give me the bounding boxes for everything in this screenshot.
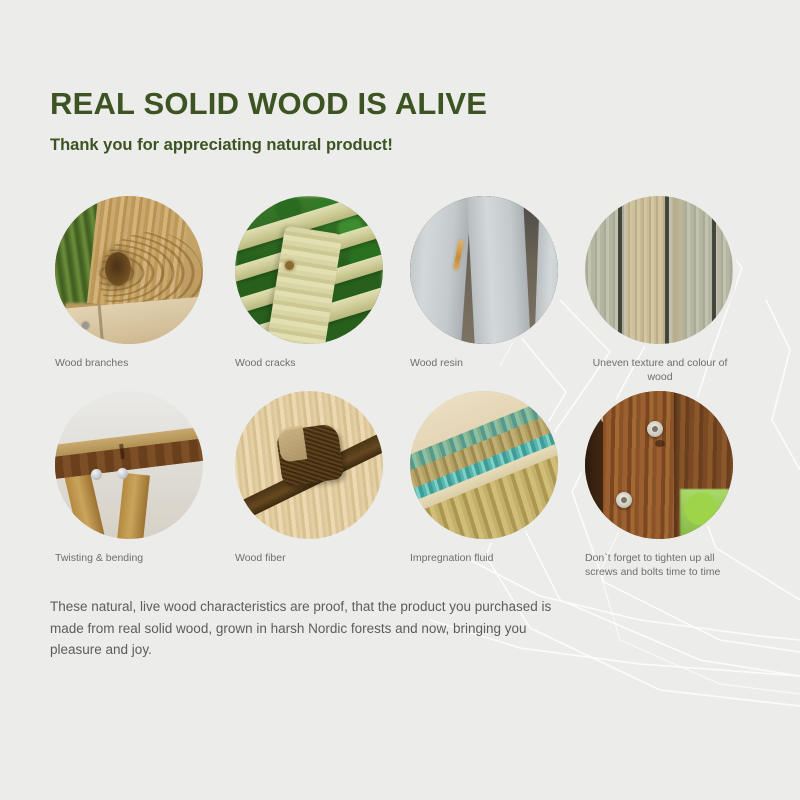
caption-wood-branches: Wood branches (55, 356, 205, 370)
feature-uneven-texture: Uneven texture and colour of wood (585, 196, 735, 384)
feature-impregnation-fluid: Impregnation fluid (410, 391, 560, 565)
circle-wrap (55, 196, 203, 344)
circle-wrap (55, 391, 203, 539)
circle-wrap (410, 391, 558, 539)
bolt-head-detail (91, 469, 102, 480)
photo-wood-branches (55, 196, 203, 344)
caption-wood-fiber: Wood fiber (235, 551, 385, 565)
caption-impregnation-fluid: Impregnation fluid (410, 551, 560, 565)
feature-wood-resin: Wood resin (410, 196, 560, 370)
page-subtitle: Thank you for appreciating natural produ… (50, 136, 393, 155)
feature-wood-fiber: Wood fiber (235, 391, 385, 565)
table-leg-detail (116, 473, 150, 539)
footnote-text: These natural, live wood characteristics… (50, 596, 580, 661)
photo-wood-cracks (235, 196, 383, 344)
wood-cracks-image (235, 196, 383, 344)
caption-wood-resin: Wood resin (410, 356, 560, 370)
circle-wrap (235, 391, 383, 539)
photo-wood-resin (410, 196, 558, 344)
screw-washer-icon (647, 421, 663, 437)
caption-twisting-bending: Twisting & bending (55, 551, 205, 565)
foliage-detail (680, 489, 733, 539)
feature-tighten-screws: Don`t forget to tighten up all screws an… (585, 391, 745, 579)
infographic-page: REAL SOLID WOOD IS ALIVE Thank you for a… (0, 0, 800, 800)
photo-impregnation-fluid (410, 391, 558, 539)
fiber-highlight-detail (277, 425, 307, 462)
page-title: REAL SOLID WOOD IS ALIVE (50, 86, 487, 122)
tighten-screws-image (585, 391, 733, 539)
feature-wood-branches: Wood branches (55, 196, 205, 370)
warm-plank-detail (626, 196, 664, 344)
plank-seam-detail (618, 196, 622, 344)
screw-detail (82, 322, 89, 329)
caption-wood-cracks: Wood cracks (235, 356, 385, 370)
impregnation-fluid-image (410, 391, 558, 539)
table-leg-detail (64, 472, 107, 539)
wood-fiber-image (235, 391, 383, 539)
caption-tighten-screws: Don`t forget to tighten up all screws an… (585, 551, 745, 579)
wood-resin-image (410, 196, 558, 344)
feature-twisting-bending: Twisting & bending (55, 391, 205, 565)
circle-wrap (235, 196, 383, 344)
photo-wood-fiber (235, 391, 383, 539)
plank-detail (466, 196, 532, 344)
screw-washer-icon (616, 492, 632, 508)
photo-twisting-bending (55, 391, 203, 539)
boards-detail (55, 297, 203, 344)
plank-seam-detail (712, 196, 716, 344)
caption-uneven-texture: Uneven texture and colour of wood (585, 356, 735, 384)
wood-branches-image (55, 196, 203, 344)
circle-wrap (410, 196, 558, 344)
plank-seam-detail (665, 196, 669, 344)
photo-uneven-texture (585, 196, 733, 344)
main-post-detail (603, 391, 674, 539)
knot-detail (655, 440, 665, 447)
circle-wrap (585, 196, 733, 344)
circle-wrap (585, 391, 733, 539)
uneven-texture-image (585, 196, 733, 344)
twisting-bending-image (55, 391, 203, 539)
feature-wood-cracks: Wood cracks (235, 196, 385, 370)
warm-plank-detail (671, 196, 684, 344)
photo-tighten-screws (585, 391, 733, 539)
